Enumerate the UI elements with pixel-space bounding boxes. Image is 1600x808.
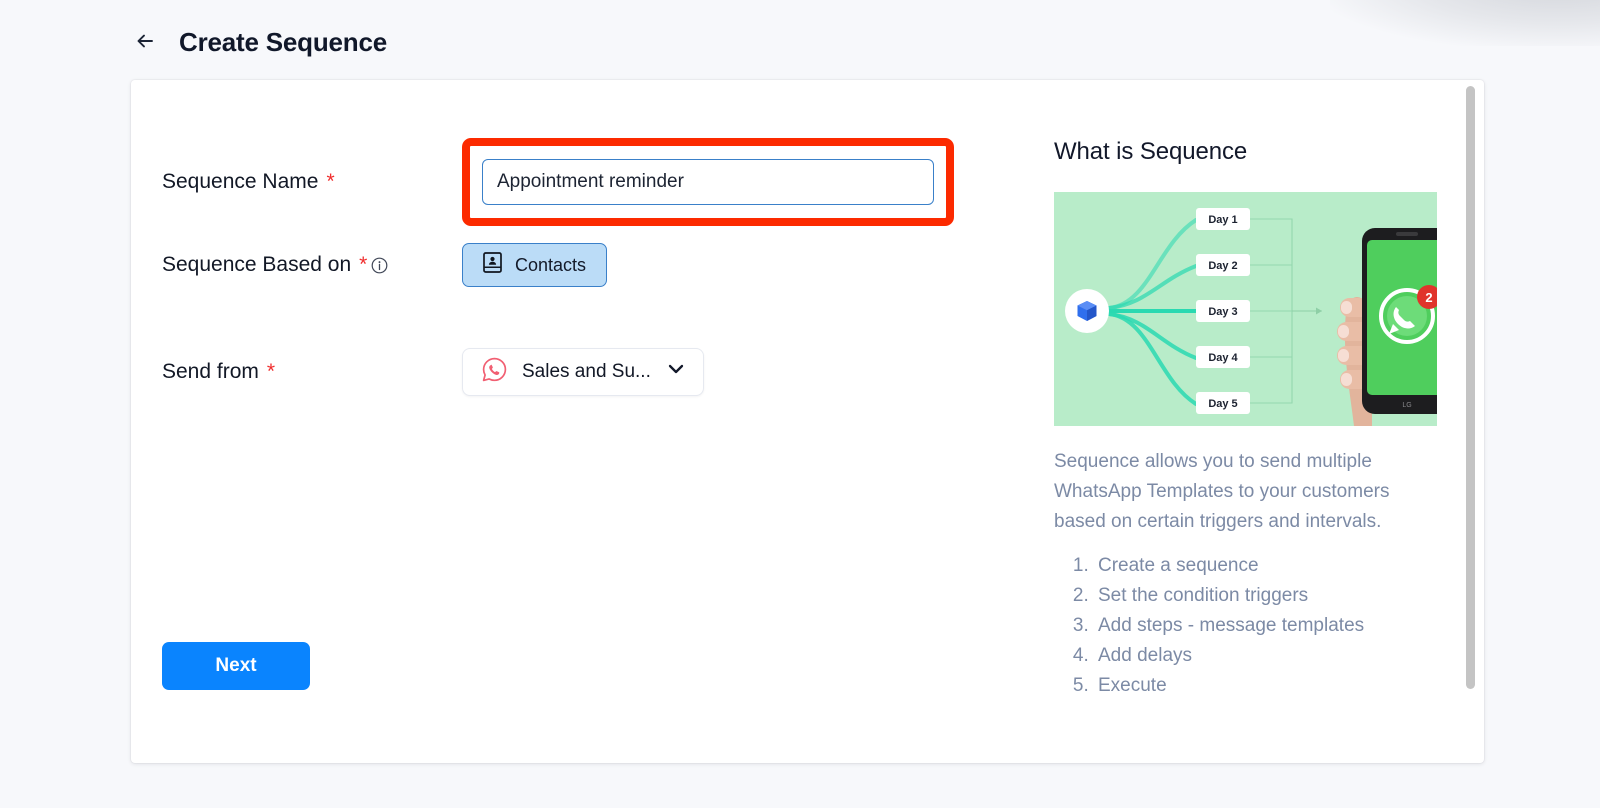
contact-card-icon bbox=[483, 252, 502, 278]
svg-text:Day 4: Day 4 bbox=[1208, 352, 1238, 364]
list-item: Create a sequence bbox=[1094, 551, 1444, 581]
field-row-send-from: Send from * Sales and Su... bbox=[162, 348, 1042, 396]
list-item: Execute bbox=[1094, 671, 1444, 701]
control-sequence-name bbox=[462, 138, 954, 226]
send-from-dropdown[interactable]: Sales and Su... bbox=[462, 348, 704, 396]
contacts-chip-label: Contacts bbox=[515, 255, 586, 276]
vertical-scrollbar-track[interactable] bbox=[1466, 80, 1480, 763]
required-asterisk: * bbox=[359, 253, 367, 277]
svg-text:LG: LG bbox=[1402, 402, 1411, 409]
arrow-left-icon bbox=[134, 30, 156, 55]
field-row-sequence-name: Sequence Name * bbox=[162, 138, 1042, 226]
annotation-highlight-box bbox=[462, 138, 954, 226]
back-button[interactable] bbox=[131, 28, 159, 56]
next-button[interactable]: Next bbox=[162, 642, 310, 690]
chevron-down-icon bbox=[665, 358, 687, 386]
label-send-from-text: Send from bbox=[162, 360, 259, 384]
send-from-selected-value: Sales and Su... bbox=[522, 361, 651, 383]
list-item: Add delays bbox=[1094, 641, 1444, 671]
svg-text:Day 1: Day 1 bbox=[1208, 214, 1237, 226]
svg-text:Day 5: Day 5 bbox=[1208, 398, 1237, 410]
required-asterisk: * bbox=[326, 170, 334, 194]
whatsapp-icon bbox=[481, 356, 508, 389]
label-sequence-based-on: Sequence Based on * bbox=[162, 253, 462, 277]
info-panel-description: Sequence allows you to send multiple Wha… bbox=[1054, 447, 1444, 537]
field-row-sequence-based-on: Sequence Based on * bbox=[162, 243, 1042, 287]
svg-text:Day 3: Day 3 bbox=[1208, 306, 1237, 318]
sequence-illustration: Day 1 Day 2 Day 3 Day 4 Day 5 bbox=[1054, 192, 1437, 426]
label-sequence-name: Sequence Name * bbox=[162, 170, 462, 194]
page-header: Create Sequence bbox=[131, 14, 387, 70]
svg-text:Day 2: Day 2 bbox=[1208, 260, 1237, 272]
sequence-name-input[interactable] bbox=[482, 159, 934, 205]
list-item: Set the condition triggers bbox=[1094, 581, 1444, 611]
required-asterisk: * bbox=[267, 360, 275, 384]
info-panel-title: What is Sequence bbox=[1054, 138, 1444, 166]
info-panel: What is Sequence bbox=[1054, 138, 1444, 701]
list-item: Add steps - message templates bbox=[1094, 611, 1444, 641]
create-sequence-card: Sequence Name * Sequence Based on * bbox=[131, 80, 1484, 763]
vertical-scrollbar-thumb[interactable] bbox=[1466, 86, 1475, 689]
page-title: Create Sequence bbox=[179, 27, 387, 58]
label-sequence-based-on-text: Sequence Based on bbox=[162, 253, 351, 277]
info-circle-icon[interactable] bbox=[371, 257, 388, 274]
label-send-from: Send from * bbox=[162, 360, 462, 384]
sequence-based-on-contacts-chip[interactable]: Contacts bbox=[462, 243, 607, 287]
control-send-from: Sales and Su... bbox=[462, 348, 704, 396]
svg-text:2: 2 bbox=[1425, 290, 1432, 305]
control-sequence-based-on: Contacts bbox=[462, 243, 607, 287]
info-panel-steps: Create a sequence Set the condition trig… bbox=[1054, 551, 1444, 701]
label-sequence-name-text: Sequence Name bbox=[162, 170, 318, 194]
corner-shadow-overlay bbox=[1330, 0, 1600, 46]
